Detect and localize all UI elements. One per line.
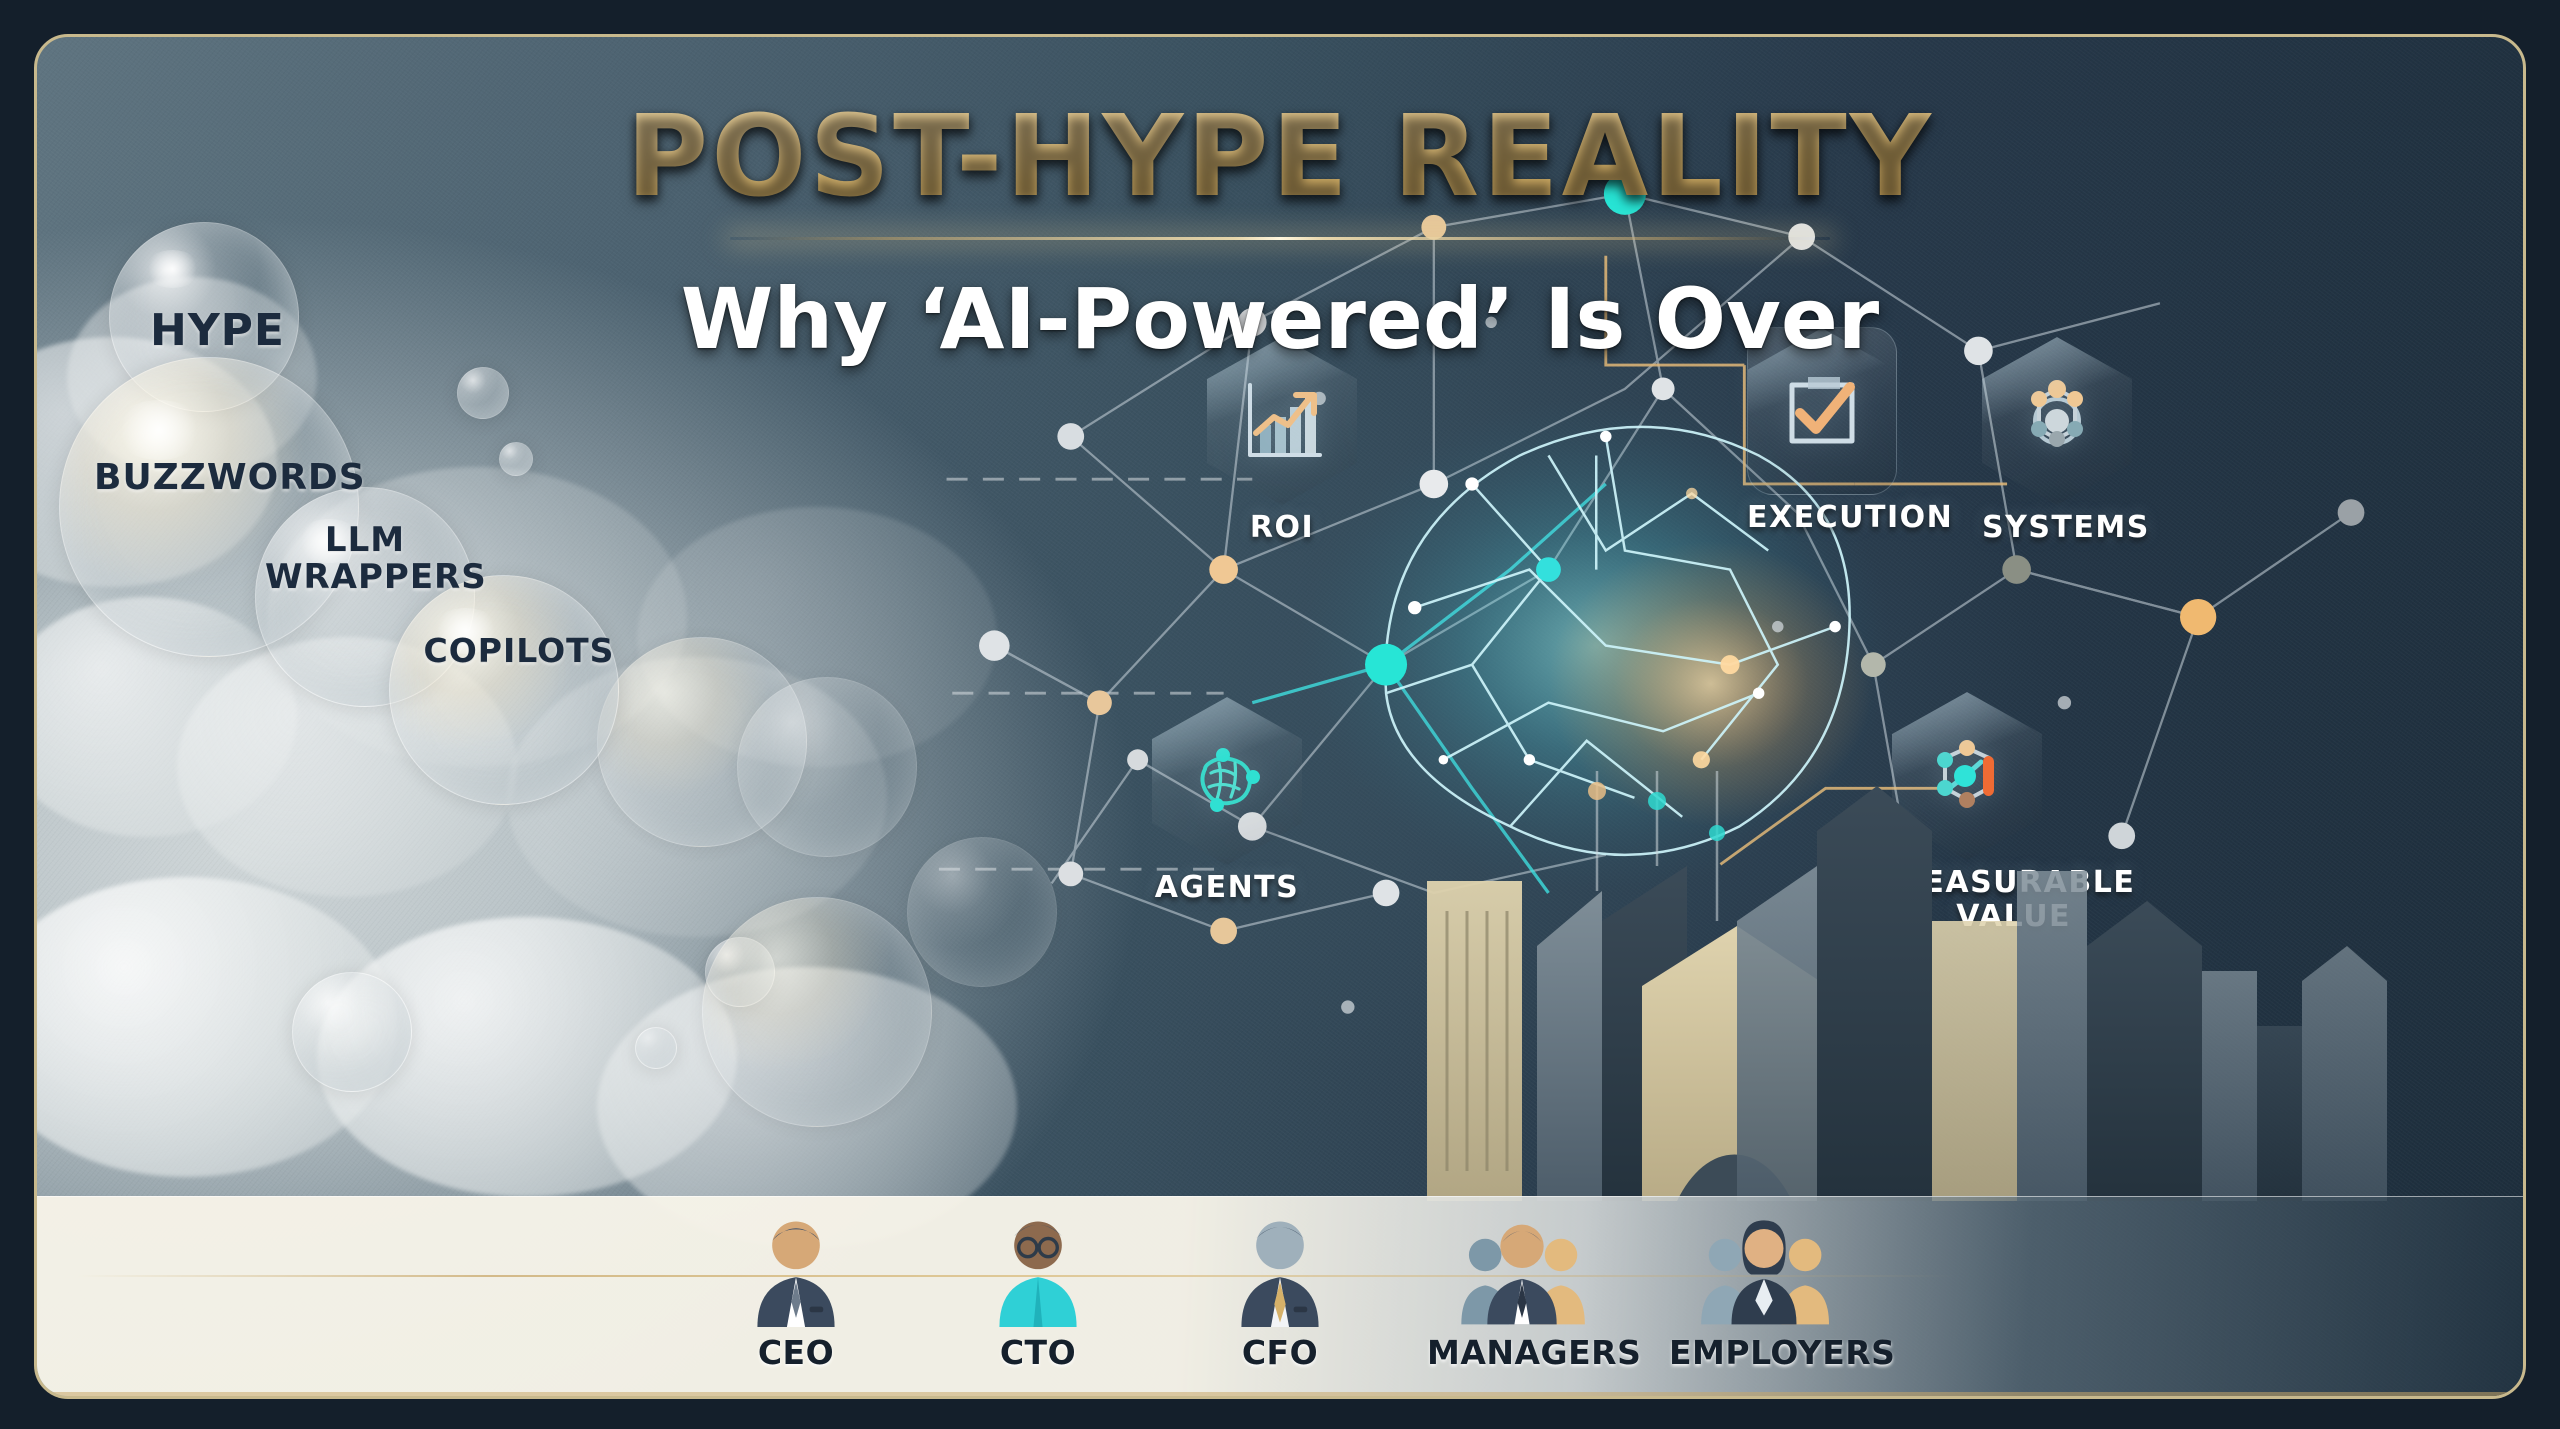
poster-frame: HYPEBUZZWORDSLLM WRAPPERSCOPILOTS bbox=[34, 34, 2526, 1399]
person-suit-gold-tie-icon bbox=[1185, 1209, 1375, 1327]
molecule-gear-icon bbox=[2009, 373, 2105, 469]
bubble-icon bbox=[737, 677, 917, 857]
people-group-female-icon bbox=[1699, 1209, 1829, 1327]
hex-frame bbox=[1152, 697, 1302, 865]
persona-label: EMPLOYERS bbox=[1669, 1333, 1859, 1372]
title-divider bbox=[730, 237, 1830, 240]
audience-bar: CEO CTO CFO MANAGERS bbox=[37, 1196, 2523, 1396]
reality-node-label: EXECUTION bbox=[1747, 501, 1953, 535]
people-group-icon bbox=[1457, 1209, 1587, 1327]
reality-node-systems[interactable]: SYSTEMS bbox=[1982, 337, 2150, 545]
checklist-check-icon bbox=[1774, 363, 1870, 459]
person-suit-icon bbox=[741, 1209, 851, 1327]
bubble-icon bbox=[635, 1027, 677, 1069]
persona-cto[interactable]: CTO bbox=[943, 1209, 1133, 1372]
persona-label: CEO bbox=[701, 1333, 891, 1372]
person-suit-icon bbox=[701, 1209, 891, 1327]
growth-chart-icon bbox=[1234, 373, 1330, 469]
bubble-label: COPILOTS bbox=[419, 633, 619, 669]
persona-label: CFO bbox=[1185, 1333, 1375, 1372]
reality-node-label: ROI bbox=[1207, 511, 1357, 545]
bubble-icon bbox=[389, 575, 619, 805]
reality-node-roi[interactable]: ROI bbox=[1207, 337, 1357, 545]
persona-ceo[interactable]: CEO bbox=[701, 1209, 891, 1372]
reality-node-label: SYSTEMS bbox=[1982, 511, 2150, 545]
bubble-icon bbox=[292, 972, 412, 1092]
persona-label: MANAGERS bbox=[1427, 1333, 1617, 1372]
reality-node-agents[interactable]: AGENTS bbox=[1152, 697, 1302, 905]
city-skyline-icon bbox=[1387, 771, 2387, 1201]
persona-managers[interactable]: MANAGERS bbox=[1427, 1209, 1617, 1372]
reality-node-label: AGENTS bbox=[1152, 871, 1302, 905]
persona-employers[interactable]: EMPLOYERS bbox=[1669, 1209, 1859, 1372]
bubble-highlight-icon bbox=[114, 400, 204, 460]
people-group-female-icon bbox=[1669, 1209, 1859, 1327]
persona-label: CTO bbox=[943, 1333, 1133, 1372]
page-subtitle: Why ‘AI-Powered’ Is Over bbox=[37, 270, 2523, 368]
neural-agent-icon bbox=[1179, 733, 1275, 829]
infographic-poster: HYPEBUZZWORDSLLM WRAPPERSCOPILOTS bbox=[0, 0, 2560, 1429]
bubble-icon bbox=[499, 442, 533, 476]
person-glasses-teal-icon bbox=[983, 1209, 1093, 1327]
bubble-icon bbox=[702, 897, 932, 1127]
person-glasses-teal-icon bbox=[943, 1209, 1133, 1327]
bubble-label: LLM WRAPPERS bbox=[265, 522, 465, 595]
persona-cfo[interactable]: CFO bbox=[1185, 1209, 1375, 1372]
people-group-icon bbox=[1427, 1209, 1617, 1327]
title-block: POST-HYPE REALITY Why ‘AI-Powered’ Is Ov… bbox=[37, 99, 2523, 368]
bubble-icon bbox=[457, 367, 509, 419]
bubble-label: BUZZWORDS bbox=[94, 459, 324, 498]
page-title: POST-HYPE REALITY bbox=[37, 99, 2523, 217]
person-suit-gold-tie-icon bbox=[1225, 1209, 1335, 1327]
persona-list: CEO CTO CFO MANAGERS bbox=[701, 1209, 1859, 1372]
